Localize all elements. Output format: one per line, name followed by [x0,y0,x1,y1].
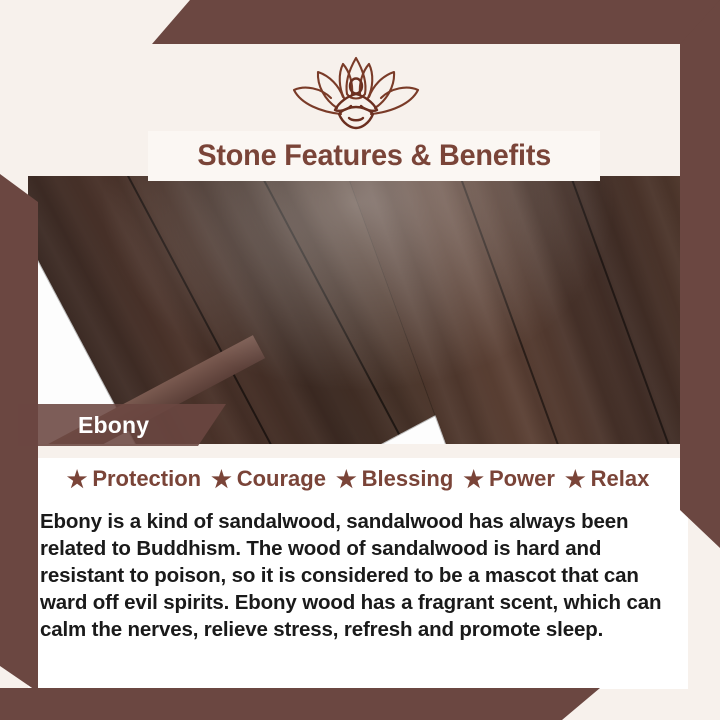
frame-bottom-band [0,688,720,720]
card-top-strip [28,444,688,458]
star-icon: ★ [565,468,586,491]
lotus-meditation-icon [261,50,451,136]
benefit-item: ★ Power [463,466,555,492]
product-label: Ebony [78,412,149,439]
product-photo [28,176,688,444]
title-banner: Stone Features & Benefits [148,131,600,181]
star-icon: ★ [67,468,88,491]
frame-top-band [0,0,720,44]
benefit-item: ★ Courage [211,466,326,492]
benefit-item: ★ Blessing [336,466,453,492]
product-label-banner: Ebony [18,404,226,446]
benefit-item: ★ Protection [67,466,201,492]
description-card: ★ Protection ★ Courage ★ Blessing ★ Powe… [28,444,688,689]
star-icon: ★ [336,468,357,491]
benefits-row: ★ Protection ★ Courage ★ Blessing ★ Powe… [28,466,688,492]
benefit-item: ★ Relax [565,466,649,492]
benefit-label: Relax [591,466,650,492]
benefit-label: Protection [92,466,201,492]
star-icon: ★ [463,468,484,491]
frame-right-band [680,0,720,548]
page-title: Stone Features & Benefits [197,139,551,173]
benefit-label: Blessing [362,466,454,492]
benefit-label: Power [489,466,555,492]
star-icon: ★ [211,468,232,491]
product-info-poster: BUDDHA STONES Stone Features & Benefits … [0,0,720,720]
description-text: Ebony is a kind of sandalwood, sandalwoo… [40,508,680,643]
benefit-label: Courage [237,466,326,492]
